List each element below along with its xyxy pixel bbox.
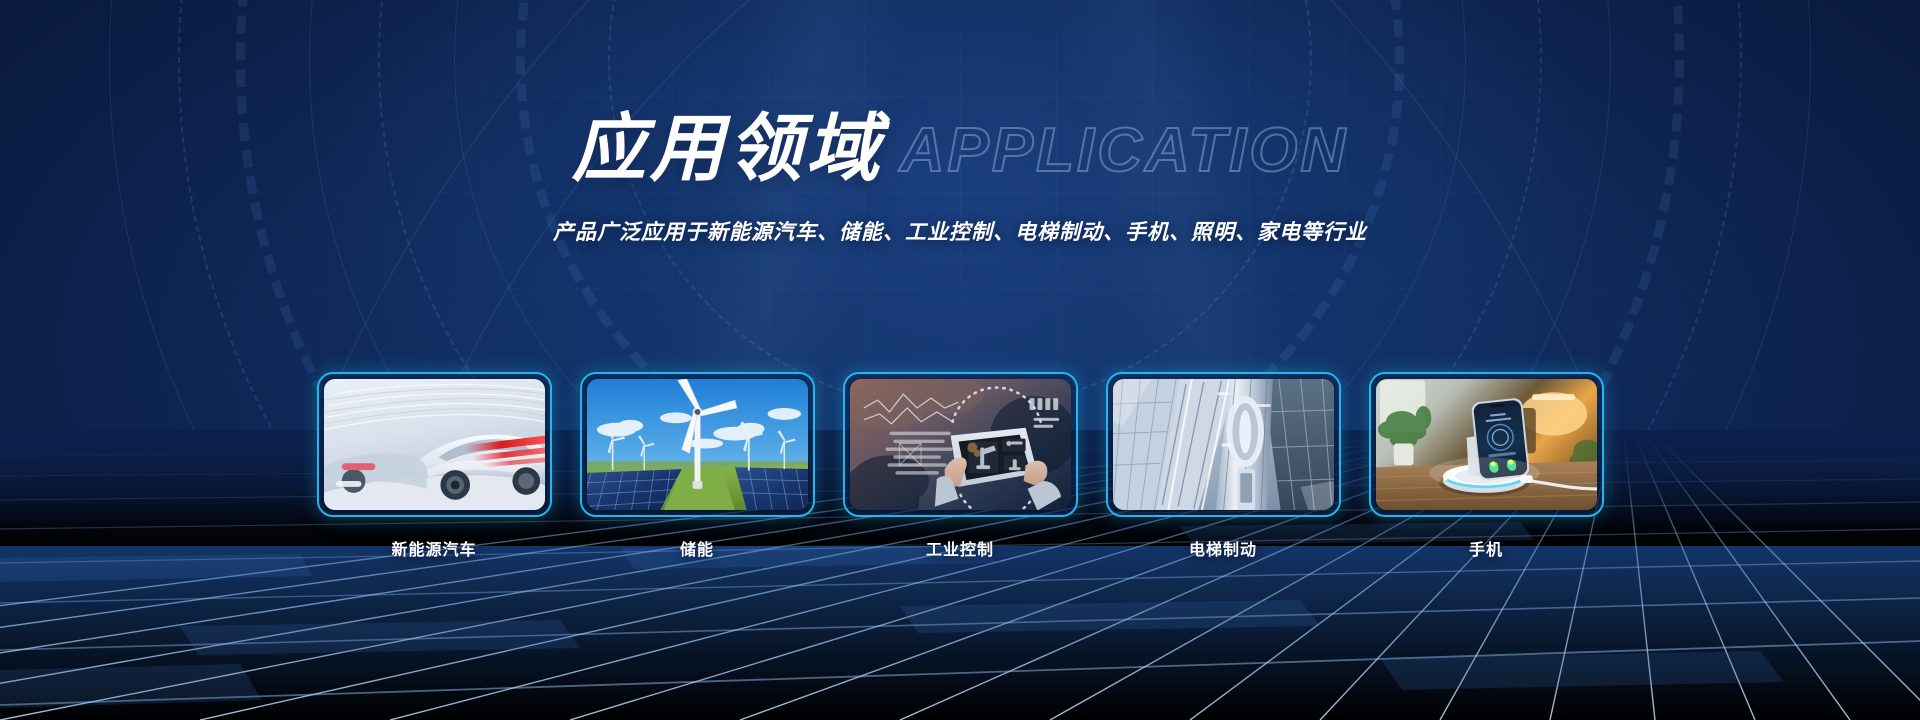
application-card[interactable]: 新能源汽车: [317, 372, 552, 560]
energy-storage-solar-wind-photo: [587, 379, 808, 510]
application-card[interactable]: 储能: [580, 372, 815, 560]
concentric-rings-decoration: [80, 0, 1840, 680]
new-energy-vehicle-photo: [324, 379, 545, 510]
card-frame[interactable]: [843, 372, 1078, 517]
card-label: 电梯制动: [1106, 536, 1341, 560]
banner-subtitle: 产品广泛应用于新能源汽车、储能、工业控制、电梯制动、手机、照明、家电等行业: [0, 216, 1920, 246]
banner-heading: 应用领域 APPLICATION 产品广泛应用于新能源汽车、储能、工业控制、电梯…: [0, 112, 1920, 246]
card-frame[interactable]: [580, 372, 815, 517]
card-frame[interactable]: [1369, 372, 1604, 517]
page-title-en: APPLICATION: [900, 120, 1349, 182]
card-label: 工业控制: [843, 536, 1078, 560]
application-card-list: 新能源汽车: [0, 372, 1920, 560]
card-label: 手机: [1369, 536, 1604, 560]
elevator-braking-photo: [1113, 379, 1334, 510]
title-row: 应用领域 APPLICATION: [572, 112, 1349, 186]
application-banner: 应用领域 APPLICATION 产品广泛应用于新能源汽车、储能、工业控制、电梯…: [0, 0, 1920, 720]
card-frame[interactable]: [1106, 372, 1341, 517]
card-label: 储能: [580, 536, 815, 560]
industrial-control-tablet-photo: [850, 379, 1071, 510]
page-title-cn: 应用领域: [572, 112, 884, 186]
smartphone-wireless-charger-photo: [1376, 379, 1597, 510]
dot-grid-background: [0, 0, 1920, 720]
card-label: 新能源汽车: [317, 536, 552, 560]
application-card[interactable]: 工业控制: [843, 372, 1078, 560]
application-card[interactable]: 电梯制动: [1106, 372, 1341, 560]
light-beams-decoration: [0, 0, 1920, 720]
card-frame[interactable]: [317, 372, 552, 517]
application-card[interactable]: 手机: [1369, 372, 1604, 560]
